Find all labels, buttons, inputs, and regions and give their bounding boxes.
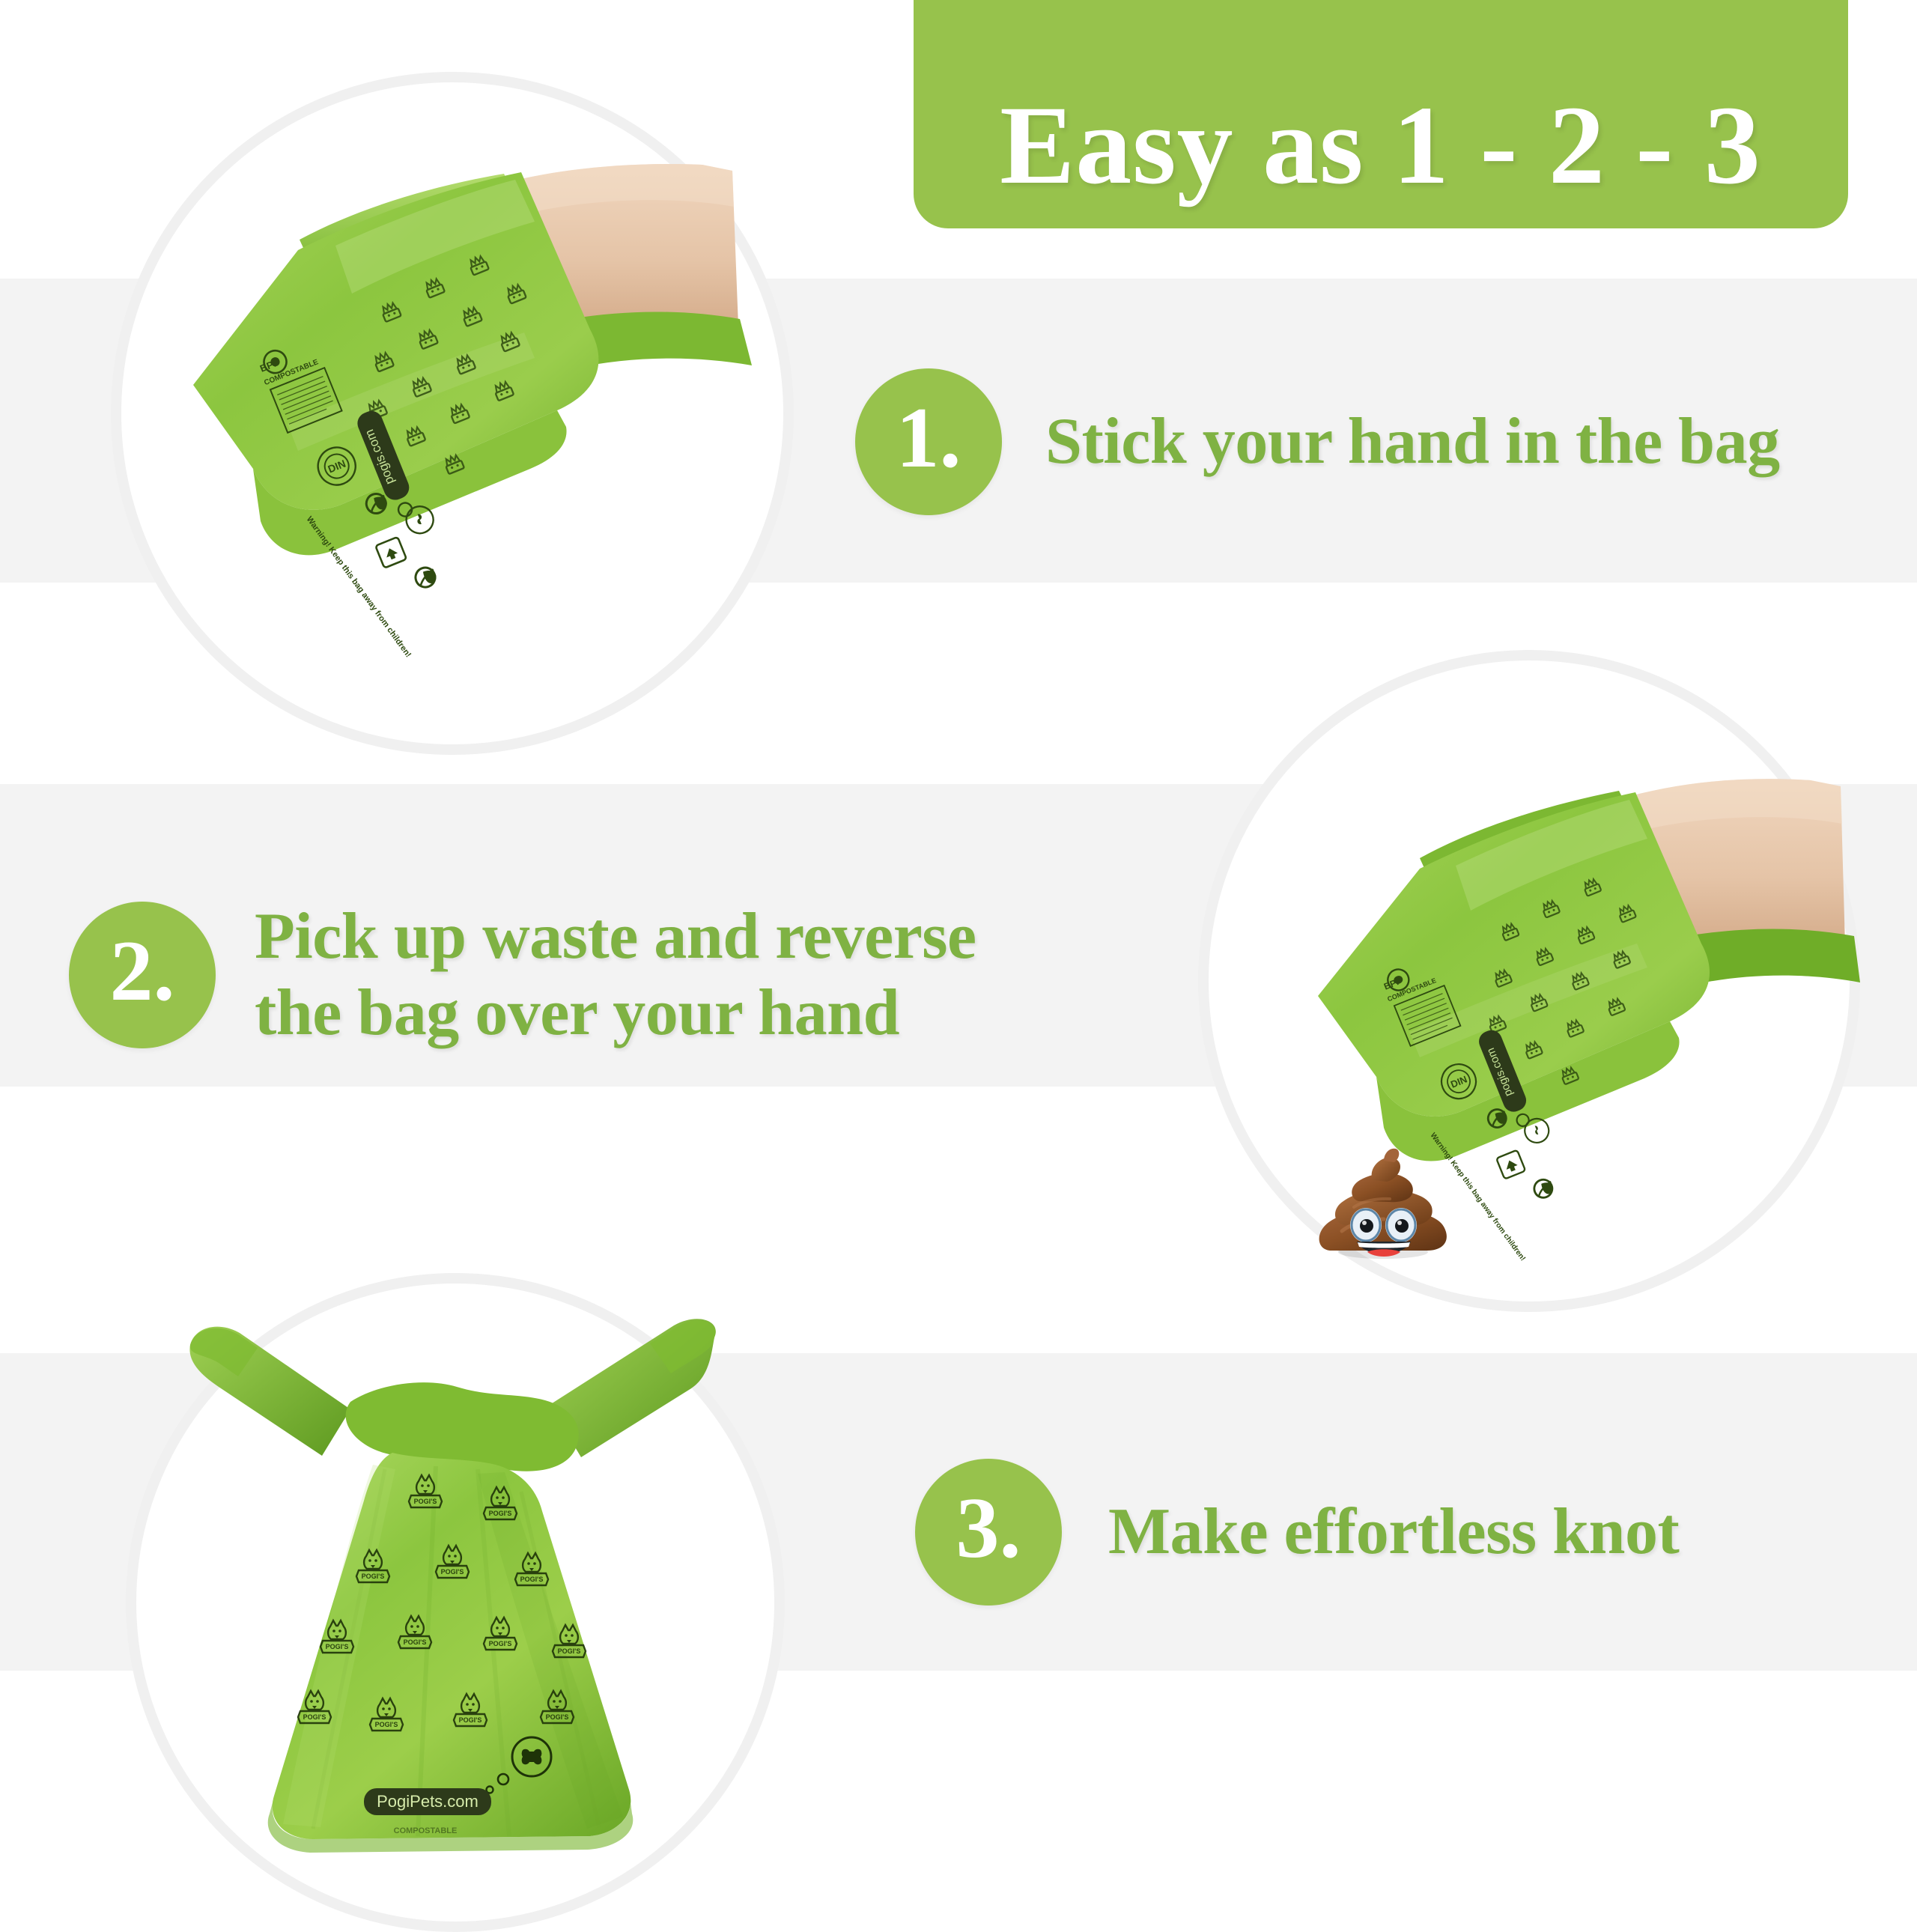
step-1-label: Stick your hand in the bag [1045, 404, 1780, 480]
header-banner: Easy as 1 - 2 - 3 [914, 0, 1848, 228]
step-2-label: Pick up waste and reverse the bag over y… [255, 899, 976, 1051]
step-3-label: Make effortless knot [1108, 1494, 1679, 1570]
photo-ring-step-1 [111, 72, 794, 755]
smiling-poop-emoji [1312, 1111, 1454, 1261]
step-2-row: 2. Pick up waste and reverse the bag ove… [69, 899, 976, 1051]
photo-ring-step-3 [126, 1273, 785, 1932]
step-3-number-badge: 3. [915, 1459, 1062, 1606]
step-1-row: 1. Stick your hand in the bag [855, 368, 1780, 515]
step-2-number-badge: 2. [69, 902, 216, 1048]
step-1-number-badge: 1. [855, 368, 1002, 515]
photo-ring-step-2 [1198, 650, 1860, 1312]
page-title-words: Easy as [1000, 83, 1393, 207]
page-title: Easy as 1 - 2 - 3 [1000, 89, 1762, 201]
step-3-row: 3. Make effortless knot [915, 1459, 1679, 1606]
page-title-numbers: 1 - 2 - 3 [1393, 83, 1762, 207]
